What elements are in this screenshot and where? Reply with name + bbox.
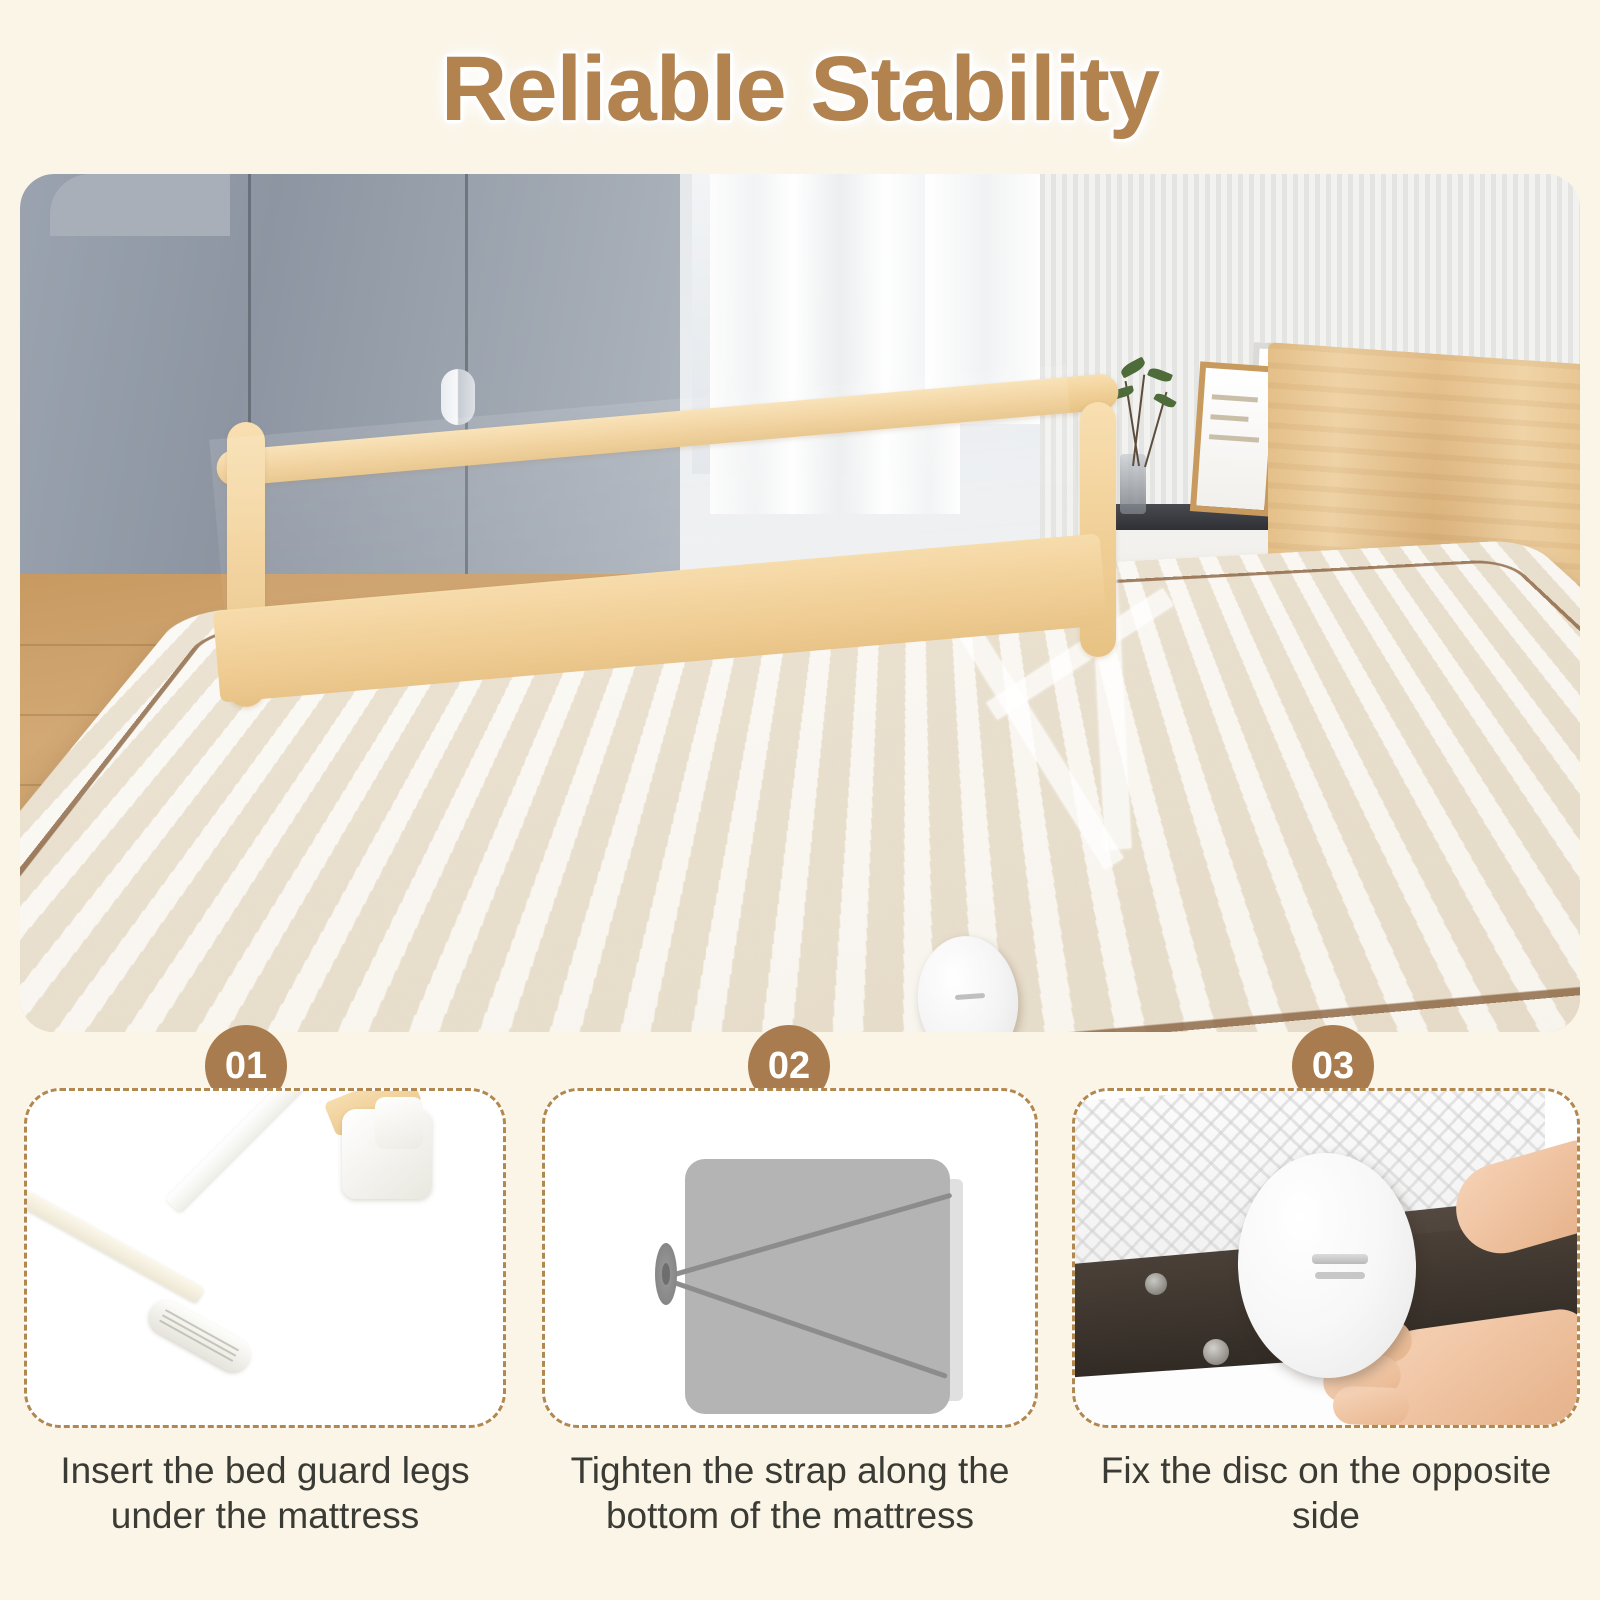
step-panel-01 <box>24 1088 506 1428</box>
step-panel-02 <box>542 1088 1038 1428</box>
finger <box>1332 1386 1409 1425</box>
step-panel-01-image <box>27 1091 503 1425</box>
page-title-container: Reliable Stability <box>0 24 1600 154</box>
bed-guard-rail <box>215 402 1120 702</box>
hero-product-image <box>20 174 1580 1032</box>
leg-joint-cap <box>375 1097 423 1149</box>
frame-screw <box>1145 1273 1167 1295</box>
step-panel-03-image <box>1075 1091 1577 1425</box>
anchor-disc-slot <box>1312 1254 1368 1264</box>
page-title: Reliable Stability <box>441 37 1159 142</box>
wardrobe-top-panel <box>50 174 230 236</box>
step-caption-02: Tighten the strap along the bottom of th… <box>542 1448 1038 1538</box>
diagram-anchor-disc-center <box>662 1263 670 1285</box>
step-caption-01: Insert the bed guard legs under the matt… <box>24 1448 506 1538</box>
step-panel-03 <box>1072 1088 1580 1428</box>
step-caption-03: Fix the disc on the opposite side <box>1072 1448 1580 1538</box>
anchor-disc-slot-secondary <box>1315 1272 1365 1279</box>
step-panel-02-diagram <box>545 1091 1035 1425</box>
guard-leg-foot-pad <box>144 1294 257 1377</box>
guard-leg-upper-arm <box>165 1091 342 1213</box>
frame-screw <box>1203 1339 1229 1365</box>
picture-frame-front <box>1190 361 1280 516</box>
diagram-mattress <box>685 1159 950 1414</box>
